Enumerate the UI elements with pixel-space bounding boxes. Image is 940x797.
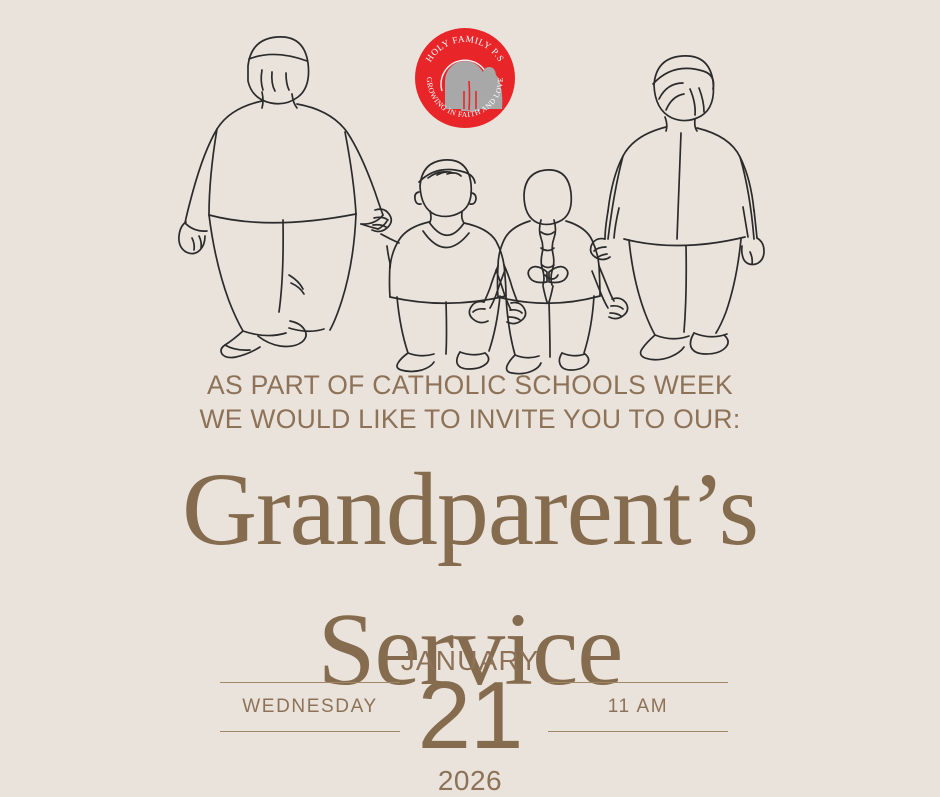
time-label: 11 AM xyxy=(548,697,728,717)
day-number: 21 xyxy=(0,668,940,764)
girl-figure xyxy=(469,170,627,374)
time-rule-bottom xyxy=(548,731,728,732)
grandfather-figure xyxy=(179,37,391,358)
kicker-line-2: WE WOULD LIKE TO INVITE YOU TO OUR: xyxy=(0,402,940,436)
headline-line-1: Grandparent’s xyxy=(0,458,940,562)
school-crest-logo: HOLY FAMILY P.S GROWING IN FAITH AND LOV… xyxy=(412,25,518,131)
year-label: 2026 xyxy=(0,765,940,797)
kicker-line-1: AS PART OF CATHOLIC SCHOOLS WEEK xyxy=(207,370,733,400)
date-details-row: WEDNESDAY JANUARY 21 2026 11 AM xyxy=(0,640,940,770)
time-block: 11 AM xyxy=(548,682,728,732)
kicker-text: AS PART OF CATHOLIC SCHOOLS WEEK WE WOUL… xyxy=(0,368,940,436)
poster-canvas: HOLY FAMILY P.S GROWING IN FAITH AND LOV… xyxy=(0,0,940,788)
time-rule-top xyxy=(548,682,728,683)
boy-figure xyxy=(381,160,526,372)
